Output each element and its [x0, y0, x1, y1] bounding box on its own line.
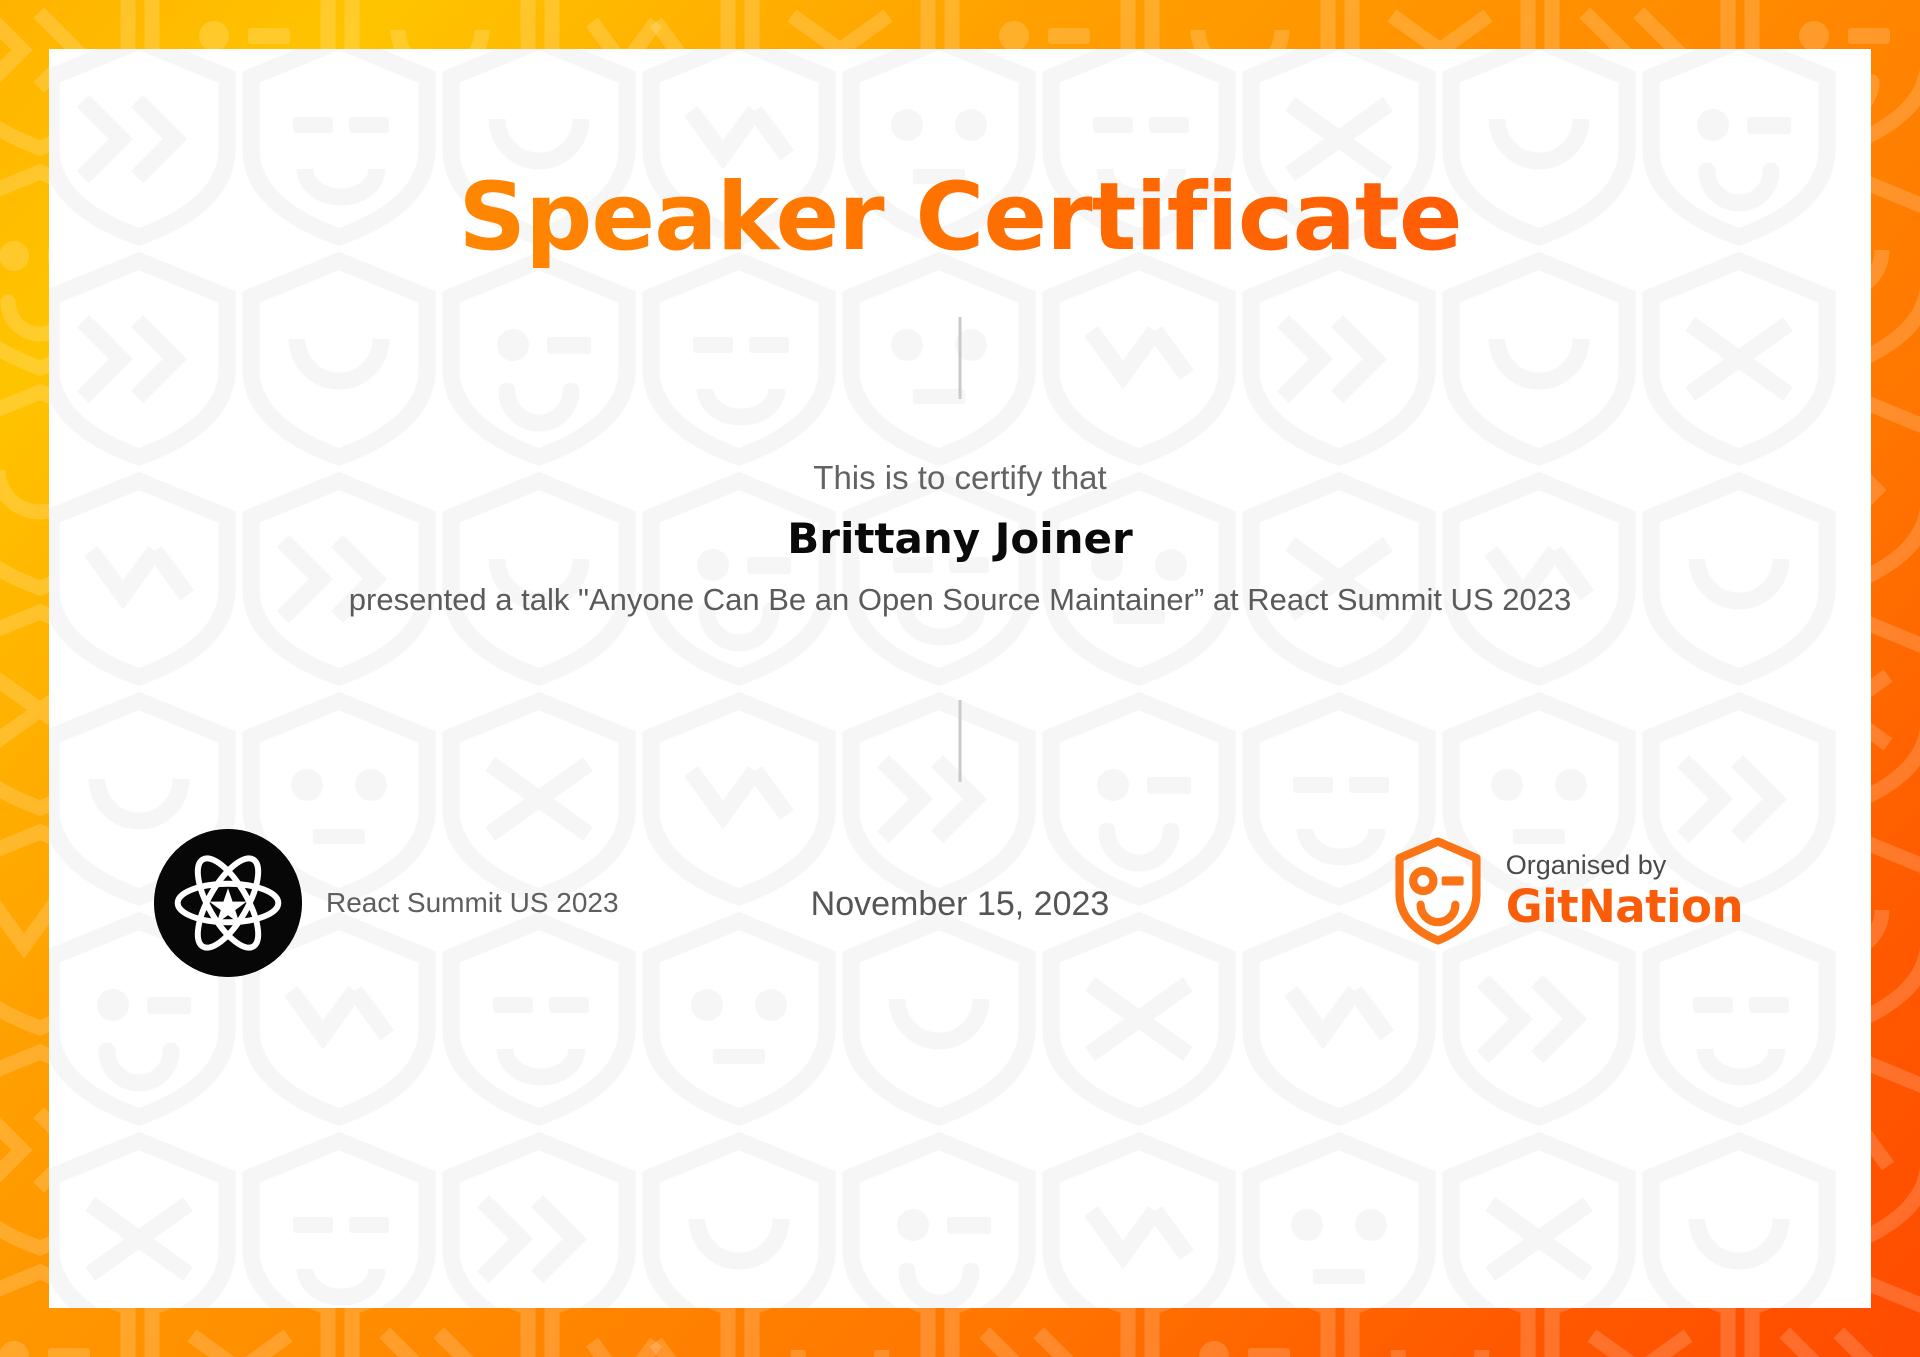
divider-top	[959, 317, 962, 399]
certificate-frame: Speaker Certificate This is to certify t…	[0, 0, 1920, 1357]
certify-line: This is to certify that	[49, 459, 1871, 497]
certificate-footer: React Summit US 2023 November 15, 2023 O…	[49, 829, 1871, 989]
certificate-card: Speaker Certificate This is to certify t…	[49, 49, 1871, 1308]
organiser-name: GitNation	[1506, 881, 1743, 933]
recipient-name: Brittany Joiner	[49, 514, 1871, 563]
page-title: Speaker Certificate	[49, 169, 1871, 268]
organiser-text: Organised by GitNation	[1506, 850, 1743, 933]
gitnation-shield-face-icon	[1392, 837, 1484, 945]
divider-bottom	[959, 700, 962, 782]
talk-description: presented a talk "Anyone Can Be an Open …	[169, 579, 1751, 620]
organiser-label: Organised by	[1506, 850, 1743, 881]
organiser-block: Organised by GitNation	[1392, 837, 1743, 945]
